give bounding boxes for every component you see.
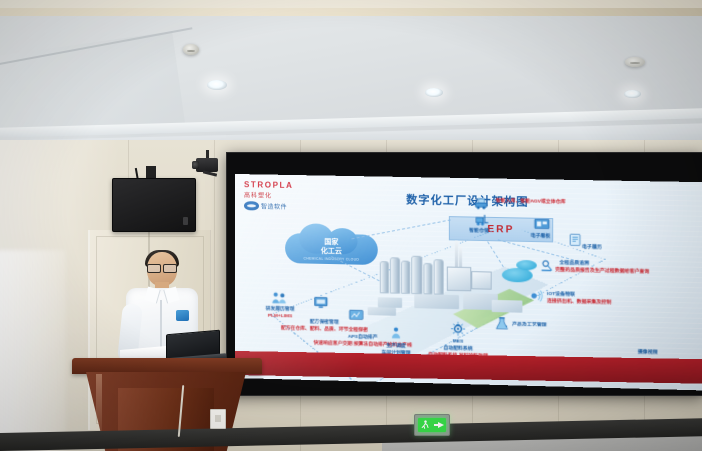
label-smart-inbound: 智能入库，智能AGV或立体仓库 xyxy=(496,199,566,207)
gear-icon xyxy=(449,321,467,337)
podium-top xyxy=(72,358,262,374)
node-product-process[interactable] xyxy=(494,316,510,331)
downlight-icon xyxy=(207,80,227,90)
worker-icon xyxy=(388,326,404,340)
downlight-icon xyxy=(425,88,443,97)
downlight-icon xyxy=(624,90,641,98)
node-iot[interactable] xyxy=(529,289,545,304)
node-quality-trace[interactable] xyxy=(539,258,555,273)
soffit-edge xyxy=(0,0,702,8)
exit-arrow-tail xyxy=(434,424,439,426)
ceiling xyxy=(0,0,702,152)
label-quality-trace: 全程品质追溯 xyxy=(559,261,589,268)
board-icon xyxy=(533,218,551,233)
smoke-detector-icon xyxy=(183,44,199,55)
window-glare xyxy=(0,250,66,451)
projection-screen-frame: STROPLA 高科塑化 智造软件 数字化工厂设计架构图 ERP 国 xyxy=(226,152,702,396)
label-e-history: 电子履历 xyxy=(582,245,602,252)
wall-speaker-icon xyxy=(112,178,196,232)
screen-icon xyxy=(347,309,365,324)
exit-sign-panel xyxy=(418,418,446,432)
node-mes[interactable] xyxy=(449,321,467,337)
running-man-icon xyxy=(421,420,430,430)
node-e-kanban[interactable] xyxy=(533,218,551,233)
label-e-kanban: 电子看板 xyxy=(531,234,551,241)
camera-icon xyxy=(196,158,218,172)
exit-sign xyxy=(414,414,450,436)
agv-icon xyxy=(473,196,491,210)
eyeglasses-icon xyxy=(147,264,177,271)
forklift-icon xyxy=(473,213,491,228)
microscope-icon xyxy=(539,258,555,273)
label-video-monitor: 摄像视频 xyxy=(638,350,658,357)
node-smart-inbound[interactable] xyxy=(473,196,491,210)
label-product-process: 产品及工艺管理 xyxy=(512,323,546,330)
conference-room-photo: STROPLA 高科塑化 智造软件 数字化工厂设计架构图 ERP 国 xyxy=(0,0,702,451)
flask-icon xyxy=(494,316,510,331)
sensor-icon xyxy=(529,289,545,304)
label-iot: IOT设备物联 xyxy=(547,292,575,299)
label-smart-warehouse: 智能仓储 xyxy=(469,229,489,236)
camera-lens-icon xyxy=(192,161,199,169)
shirt-logo-icon xyxy=(176,310,189,321)
users-icon xyxy=(271,291,287,305)
power-outlet[interactable] xyxy=(210,409,226,429)
node-smart-warehouse[interactable] xyxy=(473,213,491,228)
node-rd-history[interactable] xyxy=(271,291,287,305)
node-formula-secrecy[interactable] xyxy=(313,296,331,310)
monitor-icon xyxy=(313,296,331,310)
node-aps[interactable] xyxy=(347,309,365,324)
node-production-schedule[interactable] xyxy=(388,326,404,340)
smoke-detector-icon xyxy=(625,57,645,67)
